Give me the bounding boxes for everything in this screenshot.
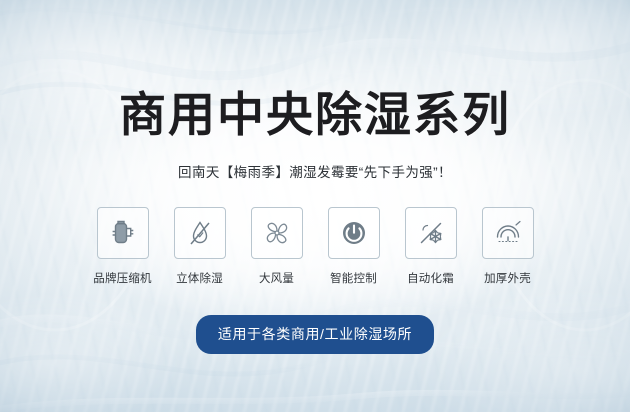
feature-item-auto-defrost: 自动化霜 [400,207,462,286]
feature-label: 立体除湿 [176,270,223,286]
defrost-snowflake-icon-box [405,207,457,259]
feature-item-compressor: 品牌压缩机 [92,207,154,286]
feature-item-smart-control: 智能控制 [323,207,385,286]
power-button-icon [340,219,368,247]
humidity-drop-icon [187,219,213,247]
feature-item-airflow: 大风量 [246,207,308,286]
fan-icon [263,219,291,247]
feature-label: 加厚外壳 [484,270,531,286]
thick-shell-icon [494,219,522,247]
defrost-snowflake-icon [417,219,445,247]
feature-label: 品牌压缩机 [93,270,152,286]
feature-item-dehumidify: 立体除湿 [169,207,231,286]
feature-label: 大风量 [259,270,294,286]
fan-icon-box [251,207,303,259]
feature-label: 自动化霜 [407,270,454,286]
promo-banner: 商用中央除湿系列 回南天【梅雨季】潮湿发霉要“先下手为强”！ [0,0,630,412]
power-button-icon-box [328,207,380,259]
page-title: 商用中央除湿系列 [119,92,511,139]
humidity-drop-icon-box [174,207,226,259]
page-subtitle: 回南天【梅雨季】潮湿发霉要“先下手为强”！ [178,161,452,181]
feature-list: 品牌压缩机 立体除湿 [92,207,539,286]
feature-item-thick-shell: 加厚外壳 [477,207,539,286]
compressor-icon [110,219,136,247]
cta-button[interactable]: 适用于各类商用/工业除湿场所 [196,315,434,354]
thick-shell-icon-box [482,207,534,259]
compressor-icon-box [97,207,149,259]
banner-content: 商用中央除湿系列 回南天【梅雨季】潮湿发霉要“先下手为强”！ [0,0,630,412]
feature-label: 智能控制 [330,270,377,286]
